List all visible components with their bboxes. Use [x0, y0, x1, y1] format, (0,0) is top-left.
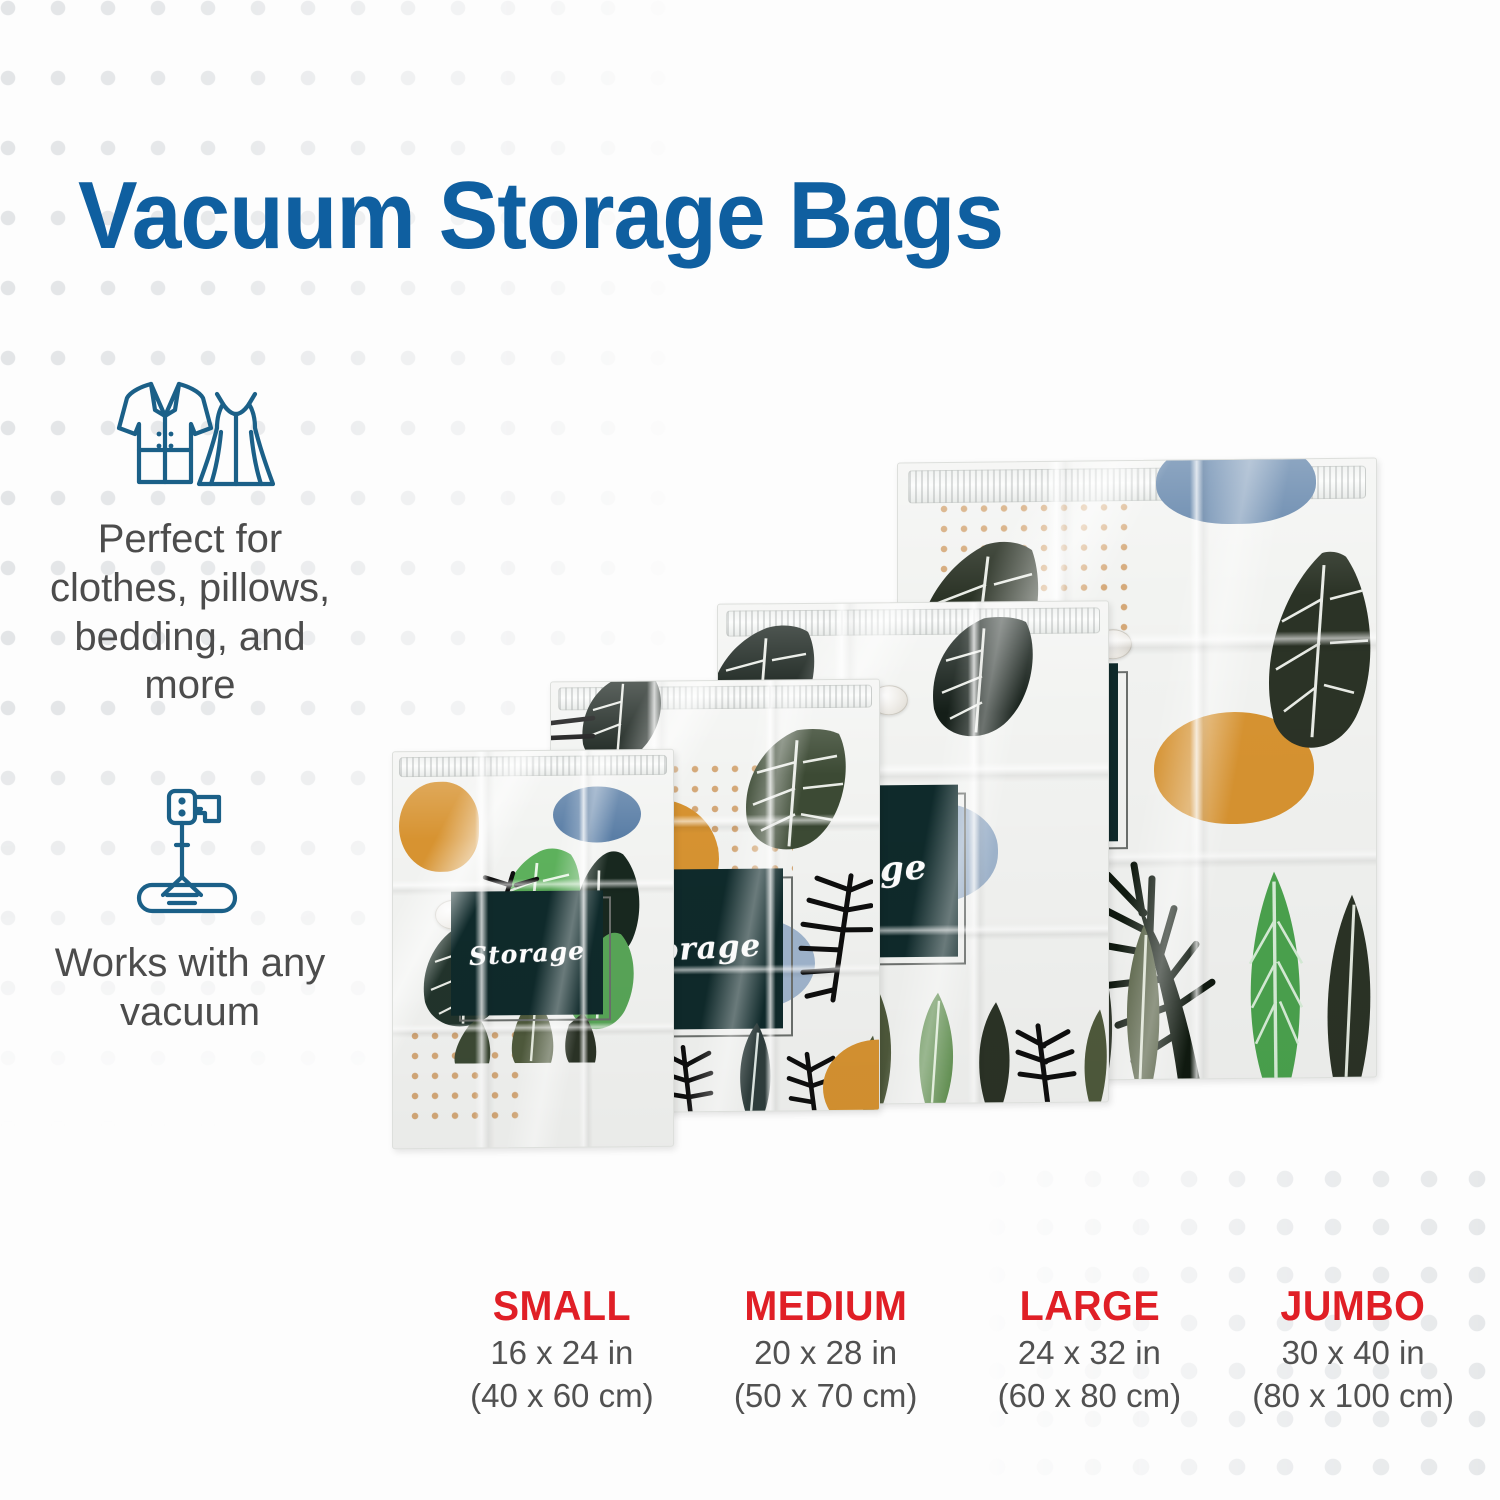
feature-vacuum-label: Works with any vacuum [25, 939, 355, 1037]
size-legend: SMALL 16 x 24 in (40 x 60 cm) MEDIUM 20 … [430, 1282, 1485, 1417]
size-column-medium: MEDIUM 20 x 28 in (50 x 70 cm) [694, 1282, 958, 1417]
size-cm-jumbo: (80 x 100 cm) [1221, 1376, 1485, 1416]
bag-small-blue-blob [553, 786, 641, 843]
size-name-medium: MEDIUM [702, 1282, 950, 1330]
bag-small-label-text: Storage [468, 936, 585, 971]
product-photo-bags: rage [370, 440, 1490, 1160]
size-cm-medium: (50 x 70 cm) [694, 1376, 958, 1416]
bag-jumbo-foliage-bottom [1078, 810, 1377, 1082]
page-title: Vacuum Storage Bags [78, 168, 1003, 264]
bag-jumbo-blue-blob [1156, 457, 1316, 524]
feature-clothes-label: Perfect for clothes, pillows, bedding, a… [25, 515, 355, 710]
feature-clothes: Perfect for clothes, pillows, bedding, a… [25, 358, 355, 710]
feature-vacuum: Works with any vacuum [25, 782, 355, 1037]
size-name-jumbo: JUMBO [1229, 1282, 1477, 1330]
size-column-large: LARGE 24 x 32 in (60 x 80 cm) [958, 1282, 1222, 1417]
size-column-small: SMALL 16 x 24 in (40 x 60 cm) [430, 1282, 694, 1417]
size-cm-small: (40 x 60 cm) [430, 1376, 694, 1416]
size-name-large: LARGE [965, 1282, 1213, 1330]
bag-jumbo-leaf-right [1250, 550, 1377, 761]
size-cm-large: (60 x 80 cm) [958, 1376, 1222, 1416]
size-column-jumbo: JUMBO 30 x 40 in (80 x 100 cm) [1221, 1282, 1485, 1417]
size-inches-small: 16 x 24 in [430, 1333, 694, 1373]
coat-and-dress-icon [25, 358, 355, 493]
bag-large-leaf-top-right [924, 616, 1056, 745]
infographic-canvas: Vacuum Storage Bags [0, 0, 1500, 1500]
bag-small-label-box: Storage [451, 890, 603, 1015]
vacuum-cleaner-icon [25, 782, 355, 917]
size-name-small: SMALL [438, 1282, 686, 1330]
bag-small: Storage [392, 749, 674, 1149]
bag-small-zipper [399, 755, 668, 778]
size-inches-large: 24 x 32 in [958, 1333, 1222, 1373]
size-inches-medium: 20 x 28 in [694, 1333, 958, 1373]
size-inches-jumbo: 30 x 40 in [1221, 1333, 1485, 1373]
bag-medium-leaf-monstera [737, 728, 869, 859]
